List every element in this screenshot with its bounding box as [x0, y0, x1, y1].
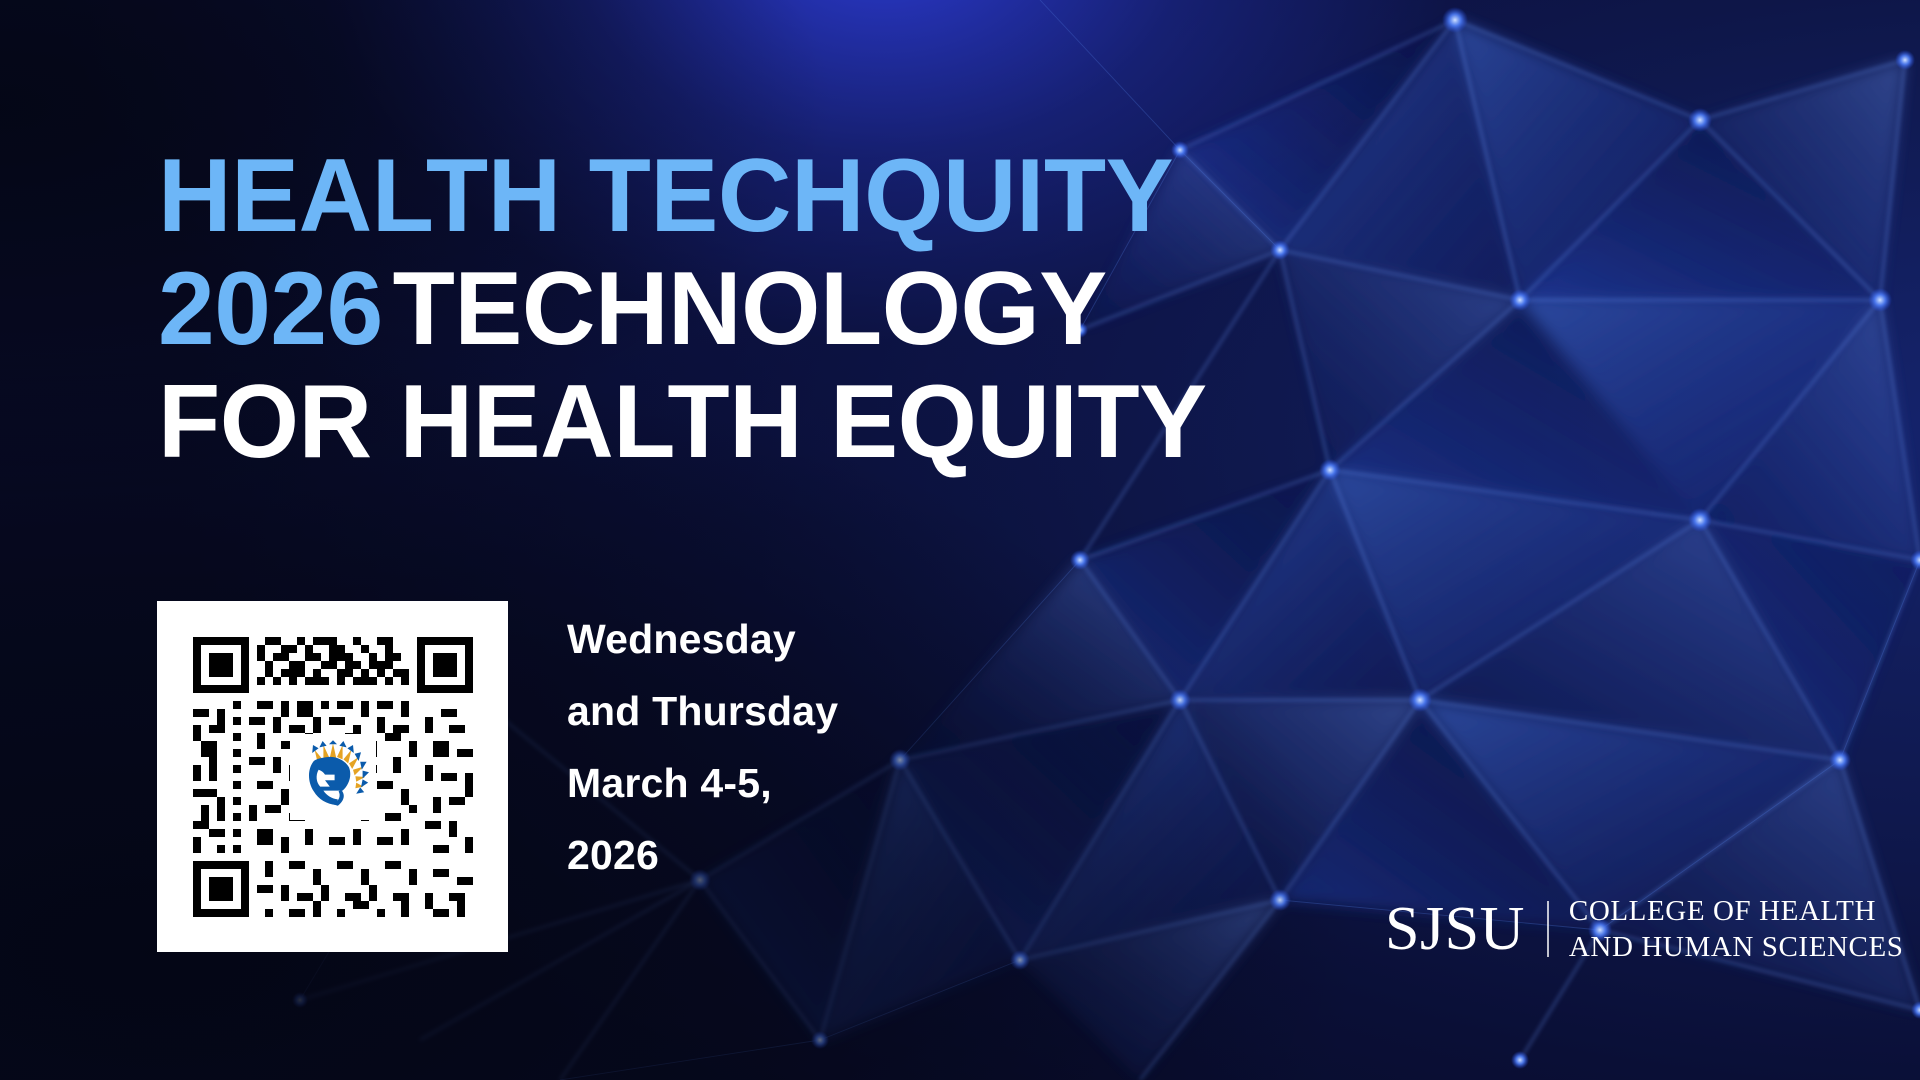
- poster-canvas: HEALTH TECHQUITY 2026TECHNOLOGY FOR HEAL…: [0, 0, 1920, 1080]
- college-name-line-2: AND HUMAN SCIENCES: [1569, 929, 1904, 965]
- college-name: COLLEGE OF HEALTH AND HUMAN SCIENCES: [1569, 893, 1904, 965]
- sjsu-wordmark: SJSU: [1385, 898, 1525, 960]
- event-date: Wednesday and Thursday March 4-5, 2026: [567, 603, 987, 891]
- sjsu-spartan-helmet-icon: [290, 734, 376, 820]
- headline-line-2: 2026TECHNOLOGY: [158, 253, 1393, 366]
- qr-code-card[interactable]: [157, 601, 508, 952]
- headline-line-3: FOR HEALTH EQUITY: [158, 366, 1393, 479]
- event-date-line-3: March 4-5,: [567, 747, 987, 819]
- headline-line-1: HEALTH TECHQUITY: [158, 140, 1393, 253]
- event-date-line-1: Wednesday: [567, 603, 987, 675]
- event-date-line-2: and Thursday: [567, 675, 987, 747]
- page-title: HEALTH TECHQUITY 2026TECHNOLOGY FOR HEAL…: [158, 140, 1418, 479]
- college-name-line-1: COLLEGE OF HEALTH: [1569, 893, 1904, 929]
- headline-year: 2026: [158, 251, 383, 367]
- headline-line-2-text: TECHNOLOGY: [383, 251, 1107, 367]
- logo-divider: [1547, 901, 1549, 957]
- qr-code-image[interactable]: [185, 629, 481, 925]
- event-date-line-4: 2026: [567, 819, 987, 891]
- sjsu-logo-lockup: SJSU COLLEGE OF HEALTH AND HUMAN SCIENCE…: [1385, 893, 1904, 965]
